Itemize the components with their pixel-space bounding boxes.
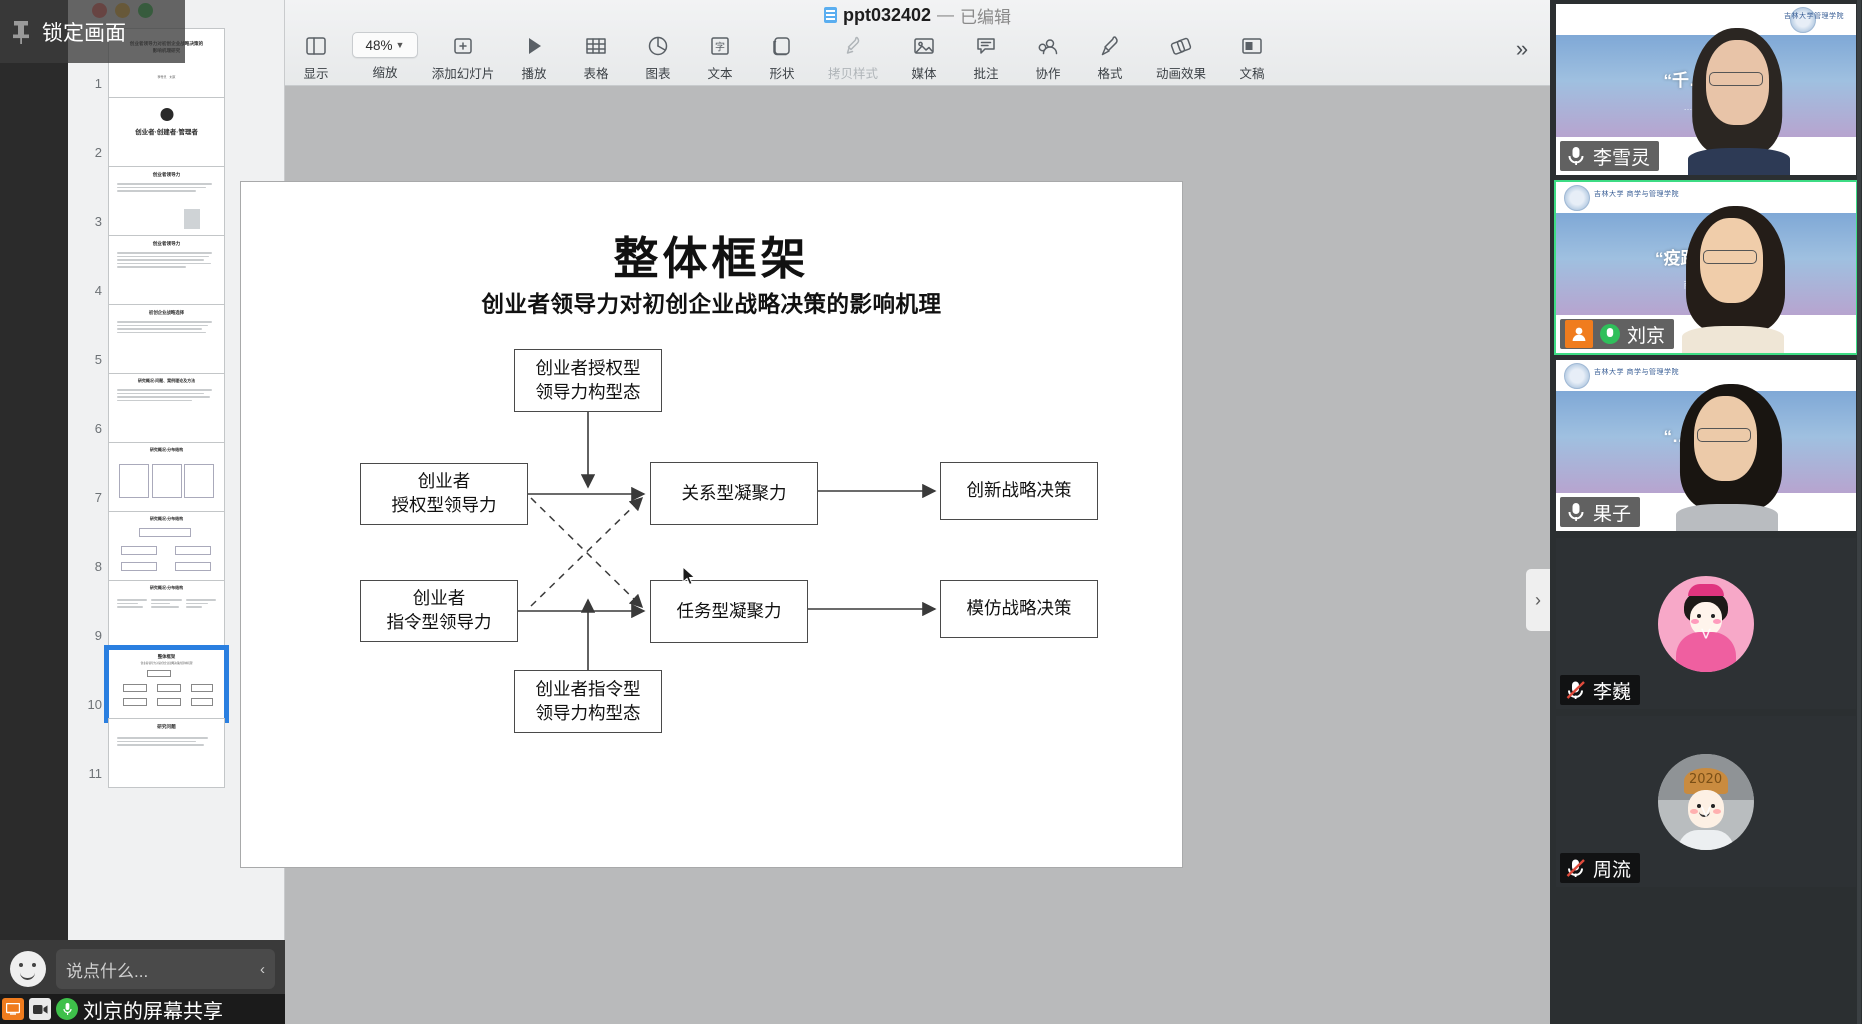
participant-name: 周流 bbox=[1593, 855, 1631, 882]
screen-share-status-bar: 刘京的屏幕共享 bbox=[0, 994, 285, 1024]
mic-muted-icon bbox=[1565, 679, 1587, 701]
text-box-icon: 字 bbox=[708, 31, 732, 61]
slide-canvas-area[interactable]: 整体框架 创业者领导力对初创企业战略决策的影响机理 bbox=[285, 86, 1550, 1024]
zoom-label: 缩放 bbox=[372, 62, 397, 81]
toolbar-item-document[interactable]: 文稿 bbox=[1221, 26, 1283, 84]
toolbar-item-media[interactable]: 媒体 bbox=[893, 26, 955, 84]
toolbar-item-comment[interactable]: 批注 bbox=[955, 26, 1017, 84]
mic-on-icon bbox=[1565, 501, 1587, 523]
slide-number: 7 bbox=[76, 442, 102, 505]
slide-thumbnail-row[interactable]: 6研究概况:问题、案例理论及方法 bbox=[76, 373, 225, 443]
chevron-double-right-icon: » bbox=[1516, 36, 1528, 62]
participant-tile-p4[interactable]: ˅李巍 bbox=[1556, 538, 1856, 709]
slide-thumbnail[interactable]: 整体框架创业者领导力对初创企业战略决策的影响机理 bbox=[108, 649, 225, 719]
slide-number: 3 bbox=[76, 166, 102, 229]
diagram-node-mid-relational[interactable]: 关系型凝聚力 bbox=[650, 462, 818, 525]
camera-white-icon bbox=[29, 998, 51, 1020]
chat-input[interactable]: 说点什么... ‹ bbox=[56, 949, 275, 989]
slide-thumbnail[interactable]: 研究概况:分布结构 bbox=[108, 580, 225, 650]
slide-number: 2 bbox=[76, 97, 102, 160]
participant-name: 李雪灵 bbox=[1593, 143, 1650, 170]
participant-nametag: 刘京 bbox=[1560, 319, 1674, 349]
toolbar-overflow-button[interactable]: » bbox=[1500, 26, 1544, 72]
document-panel-icon bbox=[1240, 31, 1264, 61]
meeting-chat-bar[interactable]: 说点什么... ‹ bbox=[0, 940, 285, 998]
zoom-control[interactable]: 48%▼缩放 bbox=[347, 26, 423, 81]
toolbar-item-copystyle[interactable]: 拷贝样式 bbox=[813, 26, 893, 84]
slide-thumbnail-row[interactable]: 2创业者·创建者·管理者 bbox=[76, 97, 225, 167]
host-avatar-badge bbox=[1565, 320, 1593, 348]
format-brush-icon bbox=[1098, 31, 1122, 61]
chat-placeholder: 说点什么... bbox=[66, 957, 148, 982]
toolbar-item-label: 媒体 bbox=[911, 63, 936, 82]
app-toolbar[interactable]: ppt032402 — 已编辑 显示48%▼缩放添加幻灯片播放表格图表字文本形状… bbox=[285, 0, 1550, 86]
toolbar-item-animate[interactable]: 动画效果 bbox=[1141, 26, 1221, 84]
slide-number: 11 bbox=[76, 718, 102, 781]
participant-video-rail[interactable]: 吉林大学管理学院“千…同…”…管理学院^李雪灵吉林大学 商学与管理学院“疫路…花… bbox=[1550, 0, 1862, 1024]
participant-name: 刘京 bbox=[1627, 321, 1665, 348]
slide-number: 9 bbox=[76, 580, 102, 643]
slide-thumbnail[interactable]: 研究概况:分布结构 bbox=[108, 511, 225, 581]
document-edit-state: 已编辑 bbox=[960, 3, 1011, 28]
toolbar-item-label: 播放 bbox=[521, 63, 546, 82]
mouse-pointer-icon bbox=[682, 566, 696, 586]
slide-number: 6 bbox=[76, 373, 102, 436]
table-icon bbox=[584, 31, 608, 61]
slide-thumbnail-row[interactable]: 5初创企业战略选择 bbox=[76, 304, 225, 374]
navigator-dark-strip bbox=[0, 0, 68, 1024]
diagram-node-top-construct[interactable]: 创业者授权型 领导力构型态 bbox=[514, 349, 662, 412]
slide-number: 8 bbox=[76, 511, 102, 574]
emoji-icon[interactable] bbox=[10, 951, 46, 987]
participant-tile-p1[interactable]: 吉林大学管理学院“千…同…”…管理学院^李雪灵 bbox=[1556, 4, 1856, 175]
slide-number: 4 bbox=[76, 235, 102, 298]
toolbar-item-label: 拷贝样式 bbox=[828, 63, 878, 82]
slide-thumbnail-row[interactable]: 3创业者领导力 bbox=[76, 166, 225, 236]
toolbar-item-collab[interactable]: 协作 bbox=[1017, 26, 1079, 84]
toolbar-item-label: 文本 bbox=[707, 63, 732, 82]
lock-screen-label: 锁定画面 bbox=[42, 17, 126, 47]
zoom-value: 48% bbox=[366, 38, 393, 53]
participant-tile-p5[interactable]: 2020˅周流 bbox=[1556, 716, 1856, 887]
slide-thumbnail[interactable]: 创业者领导力 bbox=[108, 166, 225, 236]
document-name: ppt032402 bbox=[843, 5, 931, 26]
svg-text:字: 字 bbox=[715, 41, 725, 54]
pin-icon[interactable] bbox=[0, 19, 42, 45]
chevron-left-icon[interactable]: ‹ bbox=[260, 961, 265, 978]
toolbar-item-label: 表格 bbox=[583, 63, 608, 82]
diagram-node-right-imitation[interactable]: 模仿战略决策 bbox=[940, 580, 1098, 638]
toolbar-item-text[interactable]: 字文本 bbox=[689, 26, 751, 84]
slide-thumbnail-row[interactable]: 8研究概况:分布结构 bbox=[76, 511, 225, 581]
participant-name: 李巍 bbox=[1593, 677, 1631, 704]
participant-nametag: 李雪灵 bbox=[1560, 141, 1659, 171]
keynote-document-icon bbox=[824, 7, 837, 23]
slide-thumbnail[interactable]: 研究概况:问题、案例理论及方法 bbox=[108, 373, 225, 443]
sidebar-panel-icon bbox=[304, 31, 328, 61]
toolbar-item-play[interactable]: 播放 bbox=[503, 26, 565, 84]
slide-thumbnail[interactable]: 研究概况:分布结构 bbox=[108, 442, 225, 512]
slide-thumbnail[interactable]: 创业者领导力 bbox=[108, 235, 225, 305]
pie-chart-icon bbox=[646, 31, 670, 61]
slide-thumbnail[interactable]: 创业者·创建者·管理者 bbox=[108, 97, 225, 167]
video-rail-scrollbar[interactable] bbox=[1857, 0, 1861, 1024]
slide-thumbnail[interactable]: 研究问题 bbox=[108, 718, 225, 788]
toolbar-item-label: 添加幻灯片 bbox=[432, 63, 495, 82]
paintbrush-icon bbox=[841, 31, 865, 61]
toolbar-item-label: 协作 bbox=[1035, 63, 1060, 82]
slide-thumbnail-row[interactable]: 11研究问题 bbox=[76, 718, 225, 788]
mic-on-icon bbox=[1565, 145, 1587, 167]
toolbar-item-label: 动画效果 bbox=[1156, 63, 1206, 82]
add-person-icon bbox=[1036, 31, 1060, 61]
slide-thumbnail-row[interactable]: 7研究概况:分布结构 bbox=[76, 442, 225, 512]
toolbar-item-addslide[interactable]: 添加幻灯片 bbox=[423, 26, 503, 84]
mic-on-green-icon bbox=[1599, 323, 1621, 345]
slide-thumbnail-row[interactable]: 10整体框架创业者领导力对初创企业战略决策的影响机理 bbox=[76, 649, 225, 719]
lock-screen-overlay[interactable]: 锁定画面 bbox=[0, 0, 185, 63]
diagram-node-mid-task[interactable]: 任务型凝聚力 bbox=[650, 580, 808, 643]
toolbar-item-view[interactable]: 显示 bbox=[285, 26, 347, 84]
animation-icon bbox=[1169, 31, 1193, 61]
toolbar-item-label: 图表 bbox=[645, 63, 670, 82]
collapse-video-panel-handle[interactable]: › bbox=[1526, 569, 1550, 631]
diagram-node-bottom-construct[interactable]: 创业者指令型 领导力构型态 bbox=[514, 670, 662, 733]
screen-share-orange-icon bbox=[2, 998, 24, 1020]
toolbar-item-table[interactable]: 表格 bbox=[565, 26, 627, 84]
chevron-down-icon: ▼ bbox=[396, 40, 405, 50]
mic-green-icon bbox=[56, 998, 78, 1020]
zoom-select[interactable]: 48%▼ bbox=[352, 32, 418, 58]
plus-slide-icon bbox=[451, 31, 475, 61]
diagram-node-left-empower[interactable]: 创业者 授权型领导力 bbox=[360, 463, 528, 525]
participant-tile-p2[interactable]: 吉林大学 商学与管理学院“疫路…花开”商学…讲座刘京 bbox=[1556, 182, 1856, 353]
slide-thumbnail-row[interactable]: 4创业者领导力 bbox=[76, 235, 225, 305]
keynote-app-window: 1创业者领导力对初创企业战略决策的影响机理研究李雪灵 刘京2创业者·创建者·管理… bbox=[0, 0, 1550, 1024]
toolbar-item-label: 文稿 bbox=[1239, 63, 1264, 82]
toolbar-item-chart[interactable]: 图表 bbox=[627, 26, 689, 84]
diagram-node-right-innovation[interactable]: 创新战略决策 bbox=[940, 462, 1098, 520]
slide-surface[interactable]: 整体框架 创业者领导力对初创企业战略决策的影响机理 bbox=[241, 182, 1182, 867]
participant-nametag: 周流 bbox=[1560, 853, 1640, 883]
comment-icon bbox=[974, 31, 998, 61]
toolbar-item-label: 格式 bbox=[1097, 63, 1122, 82]
diagram-node-left-directive[interactable]: 创业者 指令型领导力 bbox=[360, 580, 518, 642]
mic-muted-icon bbox=[1565, 857, 1587, 879]
participant-nametag: 李巍 bbox=[1560, 675, 1640, 705]
image-icon bbox=[912, 31, 936, 61]
participant-nametag: 果子 bbox=[1560, 497, 1640, 527]
play-icon bbox=[522, 31, 546, 61]
toolbar-item-format[interactable]: 格式 bbox=[1079, 26, 1141, 84]
toolbar-item-shape[interactable]: 形状 bbox=[751, 26, 813, 84]
title-separator: — bbox=[937, 5, 954, 25]
participant-name: 果子 bbox=[1593, 499, 1631, 526]
chevron-right-icon: › bbox=[1535, 590, 1541, 611]
window-title: ppt032402 — 已编辑 bbox=[285, 2, 1550, 28]
participant-tile-p3[interactable]: 吉林大学 商学与管理学院“…待花开”…线上讲座果子 bbox=[1556, 360, 1856, 531]
slide-thumbnail[interactable]: 初创企业战略选择 bbox=[108, 304, 225, 374]
slide-number: 5 bbox=[76, 304, 102, 367]
slide-thumbnail-row[interactable]: 9研究概况:分布结构 bbox=[76, 580, 225, 650]
slide-number: 10 bbox=[76, 649, 102, 712]
share-status-text: 刘京的屏幕共享 bbox=[83, 995, 223, 1024]
toolbar-item-label: 批注 bbox=[973, 63, 998, 82]
toolbar-item-label: 显示 bbox=[303, 63, 328, 82]
toolbar-item-label: 形状 bbox=[769, 63, 794, 82]
shape-icon bbox=[770, 31, 794, 61]
